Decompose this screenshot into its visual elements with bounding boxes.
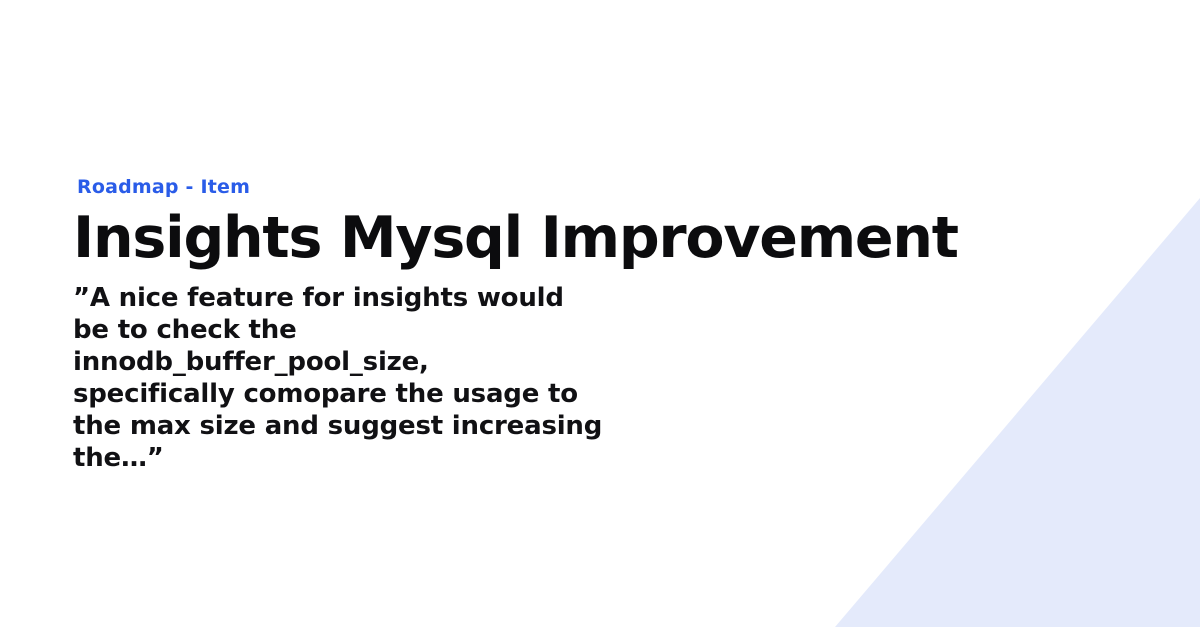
- quote-line: specifically comopare the usage to: [73, 378, 673, 410]
- quote-line: ”A nice feature for insights would: [73, 282, 673, 314]
- quote-line: be to check the: [73, 314, 673, 346]
- quote-block: ”A nice feature for insights would be to…: [73, 282, 673, 474]
- roadmap-item-card: Roadmap - Item Insights Mysql Improvemen…: [0, 0, 1200, 627]
- quote-line: the…”: [73, 442, 673, 474]
- breadcrumb-eyebrow: Roadmap - Item: [77, 178, 1023, 197]
- card-content: Roadmap - Item Insights Mysql Improvemen…: [73, 178, 1023, 474]
- quote-line: the max size and suggest increasing: [73, 410, 673, 442]
- quote-line: innodb_buffer_pool_size,: [73, 346, 673, 378]
- page-title: Insights Mysql Improvement: [73, 209, 1023, 268]
